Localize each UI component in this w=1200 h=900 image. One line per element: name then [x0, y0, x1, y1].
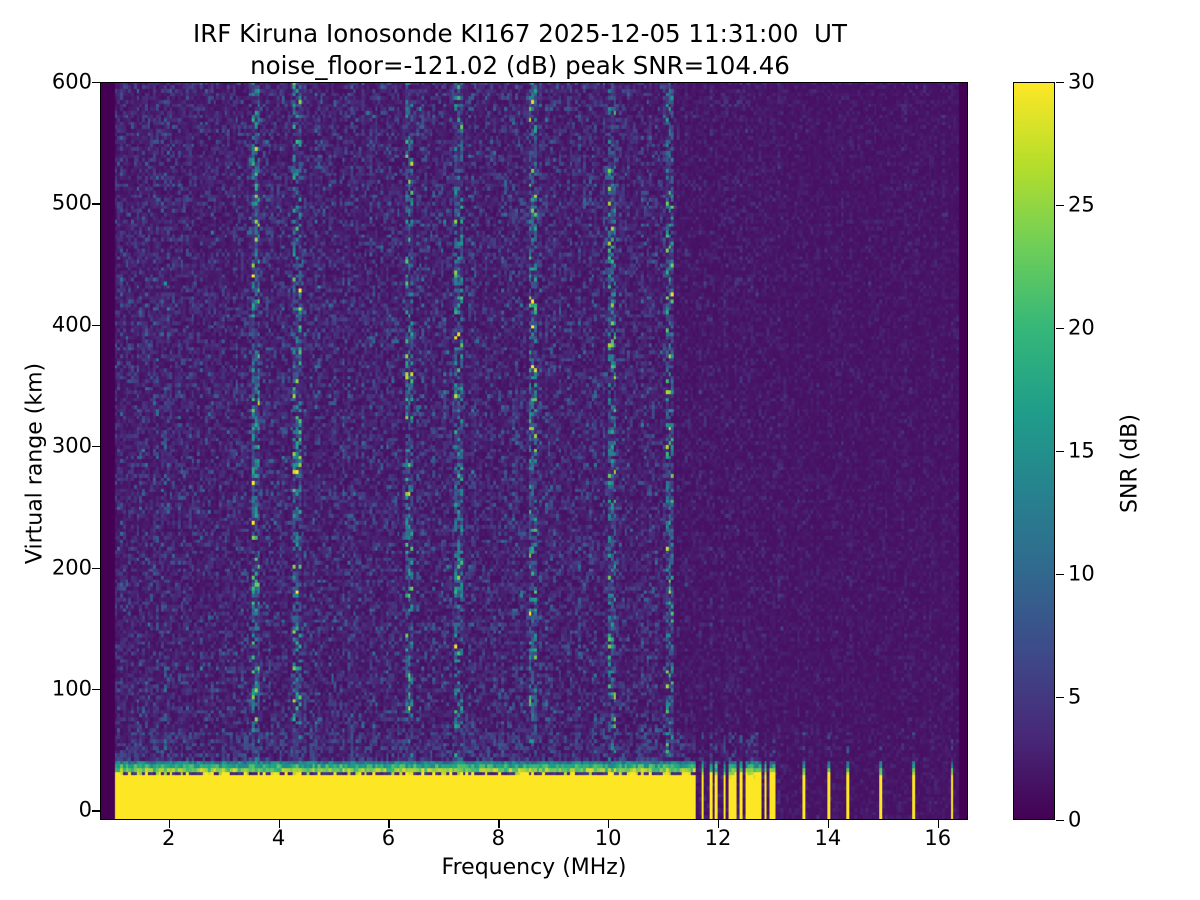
colorbar-gradient [1014, 83, 1054, 819]
y-tick-label-0: 0 [79, 800, 92, 821]
x-tick-mark-14 [828, 820, 829, 828]
colorbar-tick-mark-10 [1056, 574, 1064, 575]
y-tick-mark-400 [92, 325, 100, 326]
x-tick-label-4: 4 [272, 828, 285, 849]
y-tick-mark-300 [92, 446, 100, 447]
colorbar-tick-label-30: 30 [1068, 72, 1095, 93]
colorbar-tick-label-5: 5 [1068, 687, 1081, 708]
y-tick-label-200: 200 [52, 557, 92, 578]
y-tick-label-300: 300 [52, 436, 92, 457]
x-tick-label-6: 6 [382, 828, 395, 849]
y-tick-mark-200 [92, 568, 100, 569]
x-tick-mark-12 [718, 820, 719, 828]
colorbar-tick-mark-15 [1056, 451, 1064, 452]
colorbar-tick-label-20: 20 [1068, 318, 1095, 339]
colorbar-tick-mark-30 [1056, 82, 1064, 83]
ionogram-figure: IRF Kiruna Ionosonde KI167 2025-12-05 11… [0, 0, 1200, 900]
title-line-1: IRF Kiruna Ionosonde KI167 2025-12-05 11… [0, 18, 1040, 50]
x-tick-mark-10 [608, 820, 609, 828]
y-tick-mark-500 [92, 203, 100, 204]
y-tick-mark-0 [92, 810, 100, 811]
ionogram-plot-area[interactable] [100, 82, 968, 820]
y-tick-label-600: 600 [52, 72, 92, 93]
y-tick-label-500: 500 [52, 193, 92, 214]
x-tick-label-10: 10 [595, 828, 622, 849]
title-line-2: noise_floor=-121.02 (dB) peak SNR=104.46 [0, 50, 1040, 82]
x-tick-mark-4 [279, 820, 280, 828]
x-axis-label: Frequency (MHz) [100, 855, 968, 880]
y-axis-label: Virtual range (km) [23, 299, 48, 629]
x-tick-label-16: 16 [924, 828, 951, 849]
x-tick-label-14: 14 [815, 828, 842, 849]
x-tick-label-8: 8 [492, 828, 505, 849]
colorbar-tick-label-15: 15 [1068, 441, 1095, 462]
x-tick-mark-6 [388, 820, 389, 828]
x-tick-mark-2 [169, 820, 170, 828]
y-tick-mark-600 [92, 82, 100, 83]
colorbar-tick-label-0: 0 [1068, 810, 1081, 831]
colorbar-tick-label-10: 10 [1068, 564, 1095, 585]
colorbar-tick-mark-25 [1056, 205, 1064, 206]
colorbar-tick-label-25: 25 [1068, 195, 1095, 216]
y-tick-mark-100 [92, 689, 100, 690]
colorbar-tick-mark-0 [1056, 820, 1064, 821]
colorbar-tick-mark-5 [1056, 697, 1064, 698]
colorbar[interactable] [1013, 82, 1055, 820]
colorbar-label: SNR (dB) [1118, 334, 1143, 594]
x-tick-mark-16 [938, 820, 939, 828]
colorbar-tick-mark-20 [1056, 328, 1064, 329]
x-tick-mark-8 [498, 820, 499, 828]
x-tick-label-12: 12 [705, 828, 732, 849]
y-tick-label-400: 400 [52, 314, 92, 335]
figure-title: IRF Kiruna Ionosonde KI167 2025-12-05 11… [0, 18, 1040, 82]
y-tick-label-100: 100 [52, 678, 92, 699]
x-tick-label-2: 2 [162, 828, 175, 849]
ionogram-heatmap-canvas[interactable] [101, 83, 967, 819]
